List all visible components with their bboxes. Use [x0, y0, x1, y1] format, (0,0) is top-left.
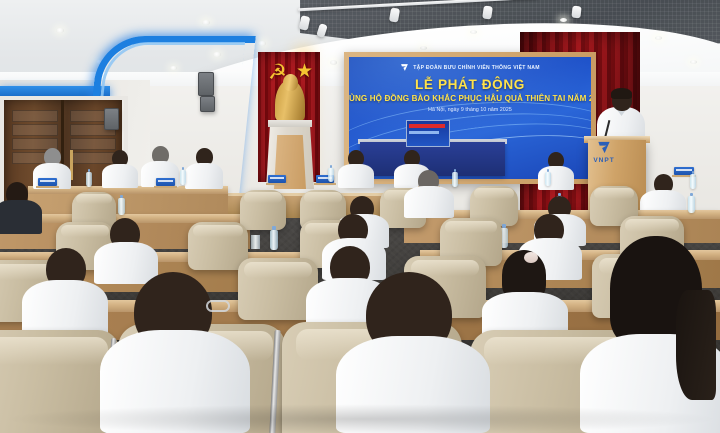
speaker-hair [611, 88, 632, 99]
wall-speaker [200, 96, 215, 112]
attendee-body [538, 166, 574, 190]
nameplate-base [36, 186, 59, 188]
floor-shadow [0, 404, 720, 433]
downlight [420, 46, 427, 50]
nameplate [38, 178, 57, 186]
attendee-body [404, 186, 454, 218]
screen-title-line1: LỄ PHÁT ĐỘNG [349, 77, 591, 92]
wall-speaker [198, 72, 214, 96]
vnpt-logo-icon [596, 140, 612, 155]
attendee-body [102, 164, 138, 188]
bust-head [283, 74, 298, 91]
podium-logo-text: VNPT [588, 157, 620, 164]
nameplate [268, 175, 286, 183]
screen-organization-text: TẬP ĐOÀN BƯU CHÍNH VIỄN THÔNG VIỆT NAM [413, 65, 540, 71]
track-spotlight [571, 6, 581, 19]
conference-hall-photo: ☭ ★ TẬP ĐOÀN BƯU CHÍNH VIỄN THÔNG VIỆT N… [0, 0, 720, 433]
downlight [470, 30, 477, 34]
wall-speaker [104, 108, 119, 130]
downlight [560, 18, 567, 22]
screen-text-block: TẬP ĐOÀN BƯU CHÍNH VIỄN THÔNG VIỆT NAM L… [349, 63, 591, 113]
screen-title-line2: ỦNG HỘ ĐỒNG BÀO KHẮC PHỤC HẬU QUẢ THIÊN … [349, 94, 591, 103]
water-bottle [270, 230, 278, 250]
presenter-monitor-text [409, 131, 439, 134]
nameplate-base [266, 183, 288, 185]
water-bottle [452, 172, 458, 187]
downlight [56, 28, 64, 33]
attendee-body [94, 242, 158, 284]
hair-strands [676, 290, 716, 400]
water-bottle [688, 196, 695, 213]
presenter-monitor-banner [409, 124, 445, 128]
downlight [202, 20, 210, 25]
water-bottle [328, 168, 334, 182]
water-bottle [545, 172, 551, 186]
water-bottle [118, 198, 125, 215]
drinking-glass [251, 235, 260, 249]
screen-date-line: Hà Nội, ngày 9 tháng 10 năm 2025 [349, 107, 591, 113]
nameplate-base [154, 186, 177, 188]
track-spotlight [482, 5, 493, 19]
attendee-body [22, 280, 108, 336]
attendee-body [0, 200, 42, 234]
vnpt-logo-icon [400, 63, 409, 72]
yellow-star-icon: ★ [296, 62, 313, 82]
podium-logo: VNPT [588, 140, 620, 166]
nameplate-base [314, 183, 336, 185]
water-bottle [690, 174, 696, 189]
hair-clip [524, 252, 538, 263]
bust-base-shelf [268, 120, 312, 127]
chair [240, 190, 286, 230]
chair [188, 222, 248, 270]
attendee-body [185, 163, 223, 189]
screen-organization-line: TẬP ĐOÀN BƯU CHÍNH VIỄN THÔNG VIỆT NAM [349, 63, 591, 72]
nameplate [156, 178, 175, 186]
water-bottle [86, 172, 92, 187]
attendee-body [338, 164, 374, 188]
water-bottle [180, 170, 186, 185]
eyeglasses [206, 300, 230, 312]
